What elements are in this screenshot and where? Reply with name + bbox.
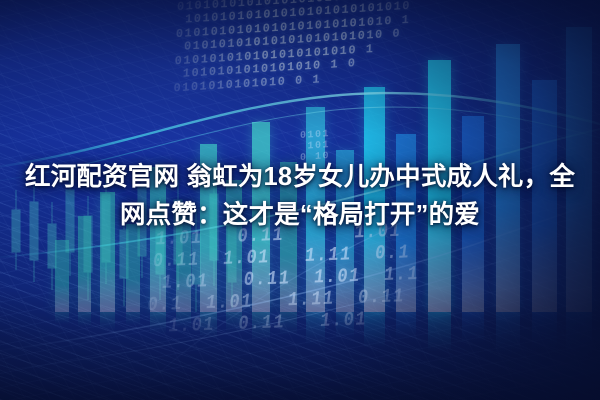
- headline-line-1: 红河配资官网 翁虹为18岁女儿办中式成人礼，全: [10, 158, 590, 196]
- article-banner: 010101010101010101010101010 101010101010…: [0, 0, 600, 400]
- headline-line-2: 网点赞：这才是“格局打开”的爱: [10, 196, 590, 234]
- banner-headline: 红河配资官网 翁虹为18岁女儿办中式成人礼，全 网点赞：这才是“格局打开”的爱: [0, 158, 600, 234]
